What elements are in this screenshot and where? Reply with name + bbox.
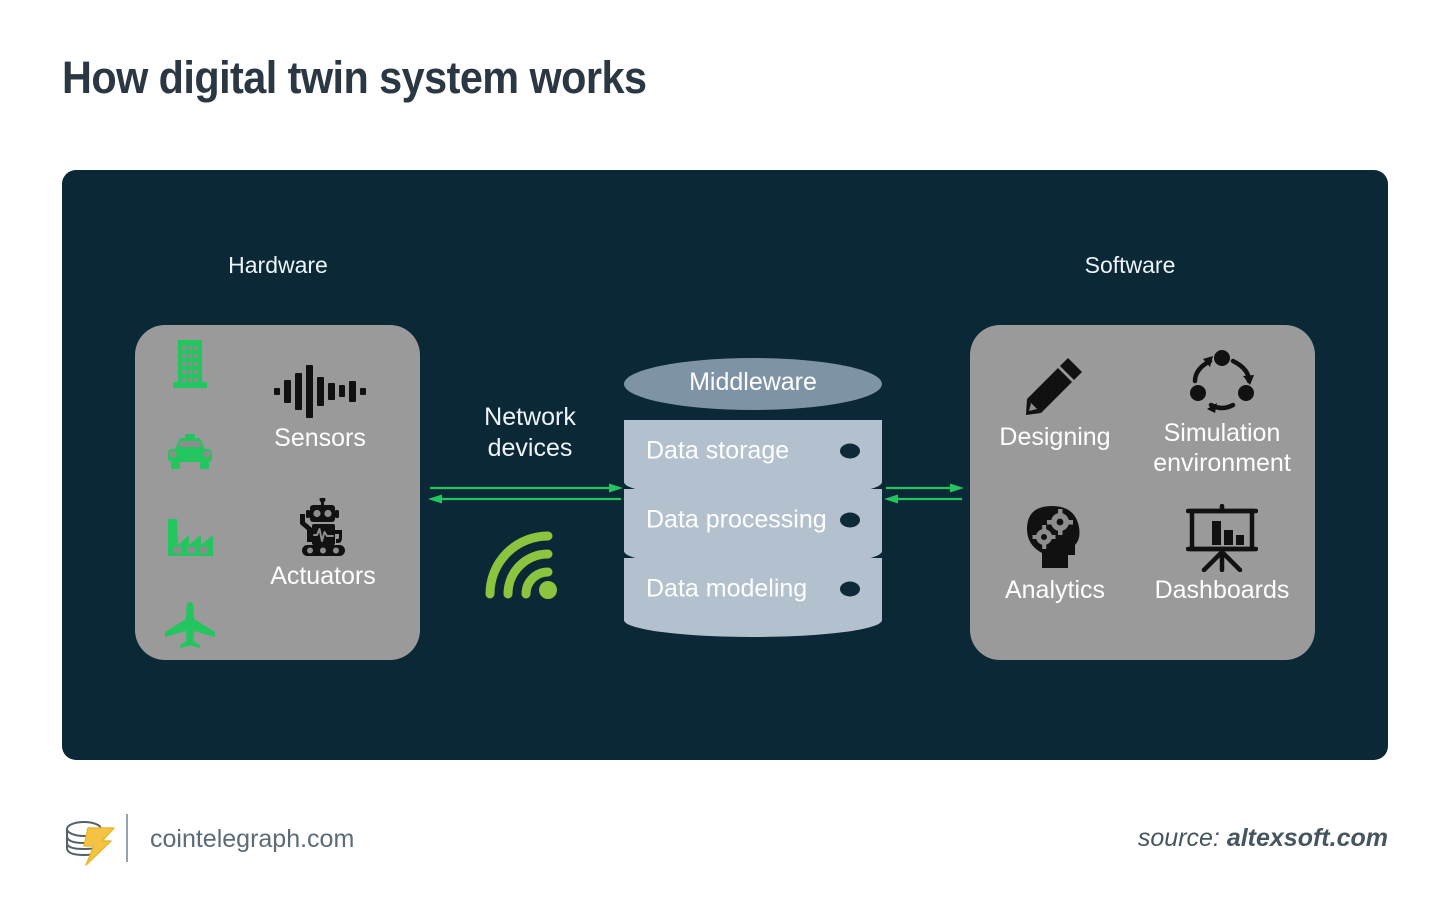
hardware-item-actuators: Actuators <box>228 498 418 591</box>
hardware-domain-icon-strip <box>160 338 220 648</box>
building-icon <box>170 338 210 390</box>
hardware-item-label: Actuators <box>228 562 418 591</box>
robot-icon <box>228 498 418 560</box>
hardware-item-label: Sensors <box>225 424 415 453</box>
footer-source-prefix: source: <box>1138 824 1227 852</box>
cycle-arrows-icon <box>1142 348 1302 414</box>
software-item-label: Designing <box>975 422 1135 452</box>
db-cap-middleware: Middleware <box>624 358 882 410</box>
db-layer-label: Data modeling <box>646 575 807 604</box>
airplane-icon <box>163 602 217 648</box>
footer-source-name: altexsoft.com <box>1227 824 1388 852</box>
software-item-label: Dashboards <box>1142 575 1302 605</box>
network-label-line2: devices <box>430 433 630 464</box>
software-section-label: Software <box>1010 252 1250 279</box>
network-label-line1: Network <box>430 402 630 433</box>
page-title: How digital twin system works <box>62 52 646 104</box>
software-item-label: Simulation environment <box>1142 418 1302 478</box>
footer-site-label[interactable]: cointelegraph.com <box>150 825 354 854</box>
head-gears-icon <box>975 505 1135 571</box>
db-layer-dot <box>840 582 860 597</box>
software-item-analytics: Analytics <box>975 505 1135 605</box>
footer-source: source: altexsoft.com <box>1138 824 1388 853</box>
db-cap-label: Middleware <box>689 368 817 397</box>
pencil-icon <box>975 352 1135 418</box>
db-layer-label: Data storage <box>646 437 789 466</box>
presentation-chart-icon <box>1142 505 1302 571</box>
car-icon <box>164 433 216 473</box>
factory-icon <box>163 515 217 559</box>
software-item-simulation: Simulation environment <box>1142 348 1302 478</box>
db-layer-bottom-cap <box>624 603 882 637</box>
middleware-database-stack: Data modeling Data processing Data stora… <box>624 358 882 608</box>
waveform-icon <box>225 360 415 422</box>
footer-divider <box>126 814 128 862</box>
db-layer-dot <box>840 444 860 459</box>
footer: cointelegraph.com source: altexsoft.com <box>0 800 1450 900</box>
db-layer-dot <box>840 513 860 528</box>
software-item-label-line1: Simulation <box>1142 418 1302 448</box>
software-item-label-line2: environment <box>1142 448 1302 478</box>
db-layer-data-storage: Data storage <box>624 420 882 482</box>
db-layer-bottom-cap <box>624 465 882 499</box>
db-layer-label: Data processing <box>646 506 827 535</box>
cointelegraph-logo[interactable] <box>62 816 118 873</box>
hardware-item-sensors: Sensors <box>225 360 415 453</box>
arrow-pair-right <box>884 482 964 511</box>
network-devices-label: Network devices <box>430 402 630 464</box>
software-item-dashboards: Dashboards <box>1142 505 1302 605</box>
software-item-label: Analytics <box>975 575 1135 605</box>
software-item-designing: Designing <box>975 352 1135 452</box>
db-layer-bottom-cap <box>624 534 882 568</box>
wifi-signal-icon <box>482 528 562 605</box>
hardware-section-label: Hardware <box>158 252 398 279</box>
arrow-pair-left <box>428 482 623 511</box>
